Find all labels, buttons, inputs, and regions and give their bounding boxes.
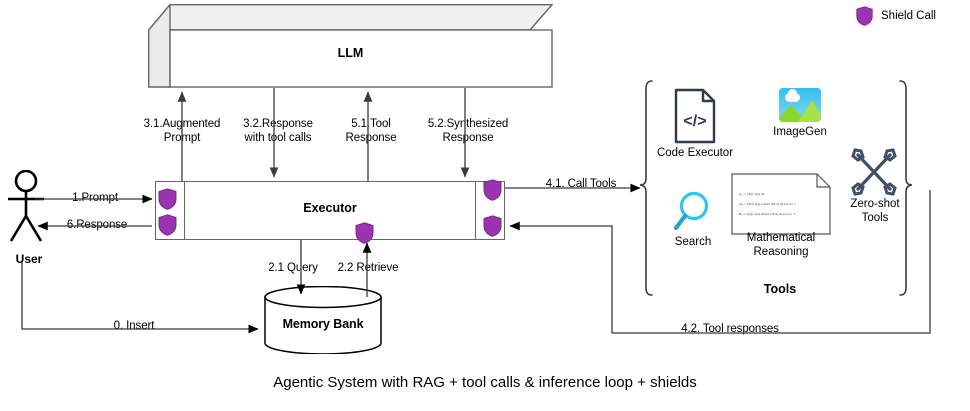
edge-label-2-1: 2.1 Query xyxy=(262,262,324,276)
code-document-icon[interactable]: </> xyxy=(673,88,717,149)
llm-label: LLM xyxy=(148,46,553,60)
svg-text:</>: </> xyxy=(683,113,706,130)
edge-label-6: 6.Response xyxy=(58,219,136,233)
edge-label-0: 0. Insert xyxy=(95,320,173,334)
memory-bank-label: Memory Bank xyxy=(264,318,382,332)
shield-icon-outlet-bottom[interactable] xyxy=(483,215,502,237)
svg-text:A₀ = 1/P ∫ₚ s(x) dx: A₀ = 1/P ∫ₚ s(x) dx xyxy=(739,192,765,196)
edge-label-4-2: 4.2. Tool responses xyxy=(665,323,795,337)
magnifier-icon[interactable] xyxy=(672,190,714,239)
user-label: User xyxy=(0,252,58,266)
edge-label-3-2: 3.2.Response with tool calls xyxy=(235,118,321,145)
edge-label-2-2: 2.2 Retrieve xyxy=(330,262,406,276)
tool-label-code-executor: Code Executor xyxy=(648,147,742,161)
tools-left-brace xyxy=(640,81,652,295)
legend-label: Shield Call xyxy=(881,10,936,22)
diagram-caption: Agentic System with RAG + tool calls & i… xyxy=(0,374,970,391)
edge-label-5-1: 5.1.Tool Response xyxy=(340,118,402,145)
tools-right-brace xyxy=(900,81,912,295)
shield-icon-outlet-top[interactable] xyxy=(483,179,502,201)
edge-label-4-1: 4.1. Call Tools xyxy=(535,178,627,192)
edge-label-1: 1.Prompt xyxy=(62,192,128,206)
user-actor[interactable] xyxy=(5,170,53,244)
edge-label-5-2: 5.2.Synthesized Response xyxy=(421,118,515,145)
diagram-canvas: LLM Executor Memory Bank User </> Code E xyxy=(0,0,970,411)
tool-label-imagegen: ImageGen xyxy=(760,126,840,140)
svg-text:Aₙ = 2/P ∫ₚ s(x) cos(2π n/P x): Aₙ = 2/P ∫ₚ s(x) cos(2π n/P x) dx for n … xyxy=(739,202,796,206)
crossed-wrenches-icon[interactable] xyxy=(848,146,900,203)
svg-text:Bₙ = 2/P ∫ₚ s(x) sin(2π n/P x): Bₙ = 2/P ∫ₚ s(x) sin(2π n/P x) dx for n … xyxy=(739,212,795,216)
edge-label-3-1: 3.1.Augmented Prompt xyxy=(143,118,221,145)
formula-document-icon[interactable]: A₀ = 1/P ∫ₚ s(x) dx Aₙ = 2/P ∫ₚ s(x) cos… xyxy=(731,173,831,240)
shield-icon xyxy=(856,6,873,26)
executor-label: Executor xyxy=(155,201,505,215)
image-picture-icon[interactable] xyxy=(779,88,821,122)
tool-label-zero-shot-tools: Zero-shot Tools xyxy=(838,198,912,225)
tool-label-mathematical-reasoning: Mathematical Reasoning xyxy=(726,232,836,259)
shield-icon-inlet-bottom[interactable] xyxy=(158,214,177,236)
shield-icon-inlet-top[interactable] xyxy=(158,188,177,210)
tool-label-search: Search xyxy=(655,236,731,250)
shield-icon-memory[interactable] xyxy=(355,222,374,244)
tools-group-label: Tools xyxy=(700,282,860,296)
